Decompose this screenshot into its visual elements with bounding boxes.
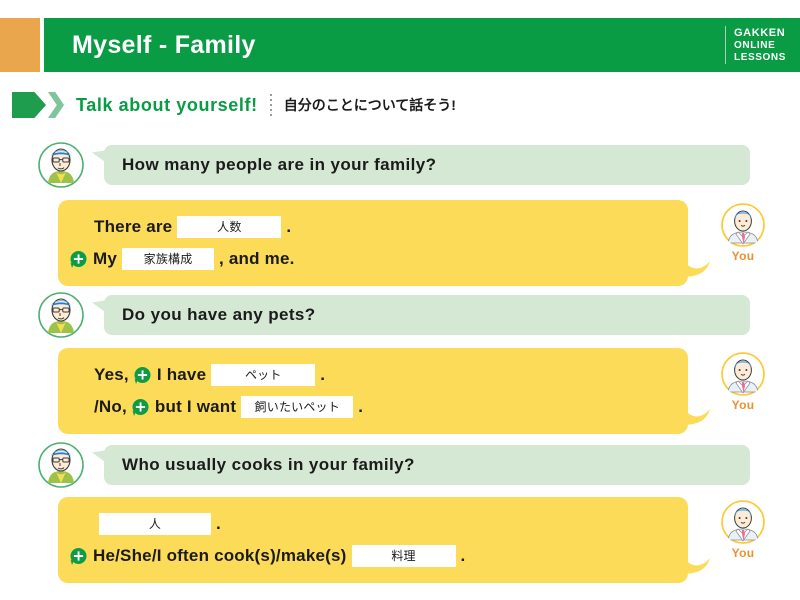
answer-line: He/She/I often cook(s)/make(s)料理.	[94, 542, 688, 570]
header: Myself - Family Gakken Online Lessons	[0, 18, 800, 72]
plus-hint-icon[interactable]	[131, 398, 150, 417]
fill-in-blank[interactable]: 飼いたいペット	[241, 396, 353, 418]
chevron-outline-icon	[48, 92, 64, 118]
subtitle-divider	[270, 94, 272, 116]
logo-divider	[725, 26, 726, 64]
fill-in-blank[interactable]: 人	[99, 513, 211, 535]
logo-line-2: Online	[734, 40, 786, 51]
answer-text: /No,	[94, 397, 127, 417]
answer-text: .	[216, 514, 221, 534]
question-text: Do you have any pets?	[122, 305, 316, 325]
you-avatar-group: You	[712, 203, 774, 263]
answer-text: .	[358, 397, 363, 417]
chevron-solid-icon	[12, 92, 46, 118]
question-bubble: Who usually cooks in your family?	[104, 445, 750, 485]
answer-bubble: Yes,I haveペット./No,but I want飼いたいペット.	[58, 348, 688, 434]
fill-in-blank[interactable]: 家族構成	[122, 248, 214, 270]
teacher-avatar	[38, 292, 84, 338]
answer-line: There are人数.	[94, 213, 688, 241]
subtitle-english: Talk about yourself!	[76, 95, 258, 116]
you-avatar	[721, 500, 765, 544]
answer-text: .	[320, 365, 325, 385]
header-accent-block	[0, 18, 40, 72]
double-chevron-right-icon	[12, 92, 64, 118]
answer-bubble: There are人数.My家族構成, and me.	[58, 200, 688, 286]
you-avatar	[721, 203, 765, 247]
answer-text: He/She/I often cook(s)/make(s)	[93, 546, 347, 566]
answer-bubble: 人.He/She/I often cook(s)/make(s)料理.	[58, 497, 688, 583]
answer-text: There are	[94, 217, 172, 237]
answer-line: 人.	[94, 510, 688, 538]
gakken-online-lessons-logo: Gakken Online Lessons	[725, 25, 786, 65]
you-avatar	[721, 352, 765, 396]
question-text: Who usually cooks in your family?	[122, 455, 415, 475]
answer-line: /No,but I want飼いたいペット.	[94, 393, 688, 421]
answer-line: My家族構成, and me.	[94, 245, 688, 273]
page-title: Myself - Family	[72, 33, 256, 58]
plus-hint-icon[interactable]	[69, 250, 88, 269]
you-label: You	[712, 546, 774, 560]
fill-in-blank[interactable]: ペット	[211, 364, 315, 386]
question-bubble: How many people are in your family?	[104, 145, 750, 185]
answer-text: My	[93, 249, 117, 269]
question-text: How many people are in your family?	[122, 155, 436, 175]
teacher-avatar	[38, 442, 84, 488]
plus-hint-icon[interactable]	[69, 547, 88, 566]
answer-text: Yes,	[94, 365, 129, 385]
answer-text: I have	[157, 365, 206, 385]
fill-in-blank[interactable]: 人数	[177, 216, 281, 238]
plus-hint-icon[interactable]	[133, 366, 152, 385]
logo-line-1: Gakken	[734, 28, 786, 39]
you-avatar-group: You	[712, 352, 774, 412]
header-bar: Myself - Family Gakken Online Lessons	[44, 18, 800, 72]
answer-line: Yes,I haveペット.	[94, 361, 688, 389]
answer-text: but I want	[155, 397, 236, 417]
question-bubble: Do you have any pets?	[104, 295, 750, 335]
fill-in-blank[interactable]: 料理	[352, 545, 456, 567]
you-label: You	[712, 249, 774, 263]
teacher-avatar	[38, 142, 84, 188]
answer-text: .	[461, 546, 466, 566]
slide-root: Myself - Family Gakken Online Lessons Ta…	[0, 0, 800, 600]
answer-text: , and me.	[219, 249, 295, 269]
you-avatar-group: You	[712, 500, 774, 560]
talk-about-yourself-banner: Talk about yourself! 自分のことについて話そう!	[12, 90, 456, 120]
subtitle-japanese: 自分のことについて話そう!	[284, 95, 456, 115]
you-label: You	[712, 398, 774, 412]
logo-line-3: Lessons	[734, 52, 786, 63]
answer-text: .	[286, 217, 291, 237]
